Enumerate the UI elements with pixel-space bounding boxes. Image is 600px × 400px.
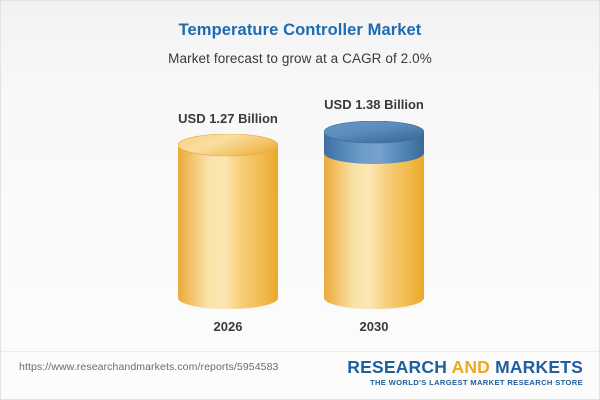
plot-area: USD 1.27 Billion xyxy=(1,1,599,353)
logo-tagline: THE WORLD'S LARGEST MARKET RESEARCH STOR… xyxy=(347,378,583,387)
bar-value-label: USD 1.38 Billion xyxy=(284,97,464,112)
cylinder-shape-gold xyxy=(178,134,278,309)
report-url[interactable]: https://www.researchandmarkets.com/repor… xyxy=(19,361,278,373)
research-and-markets-logo[interactable]: RESEARCH AND MARKETS THE WORLD'S LARGEST… xyxy=(347,358,583,387)
bar-cylinder-2030[interactable] xyxy=(324,121,424,309)
logo-word-research: RESEARCH xyxy=(347,357,447,377)
logo-wordmark: RESEARCH AND MARKETS xyxy=(347,358,583,376)
cylinder-shape-gold-blue xyxy=(324,121,424,309)
logo-word-and: AND xyxy=(451,357,490,377)
market-chart-card: Temperature Controller Market Market for… xyxy=(0,0,600,400)
bar-cylinder-2026[interactable] xyxy=(178,134,278,309)
logo-word-markets: MARKETS xyxy=(495,357,583,377)
bar-category-label: 2030 xyxy=(284,319,464,334)
footer: https://www.researchandmarkets.com/repor… xyxy=(1,351,599,399)
bar-value-label: USD 1.27 Billion xyxy=(138,111,318,126)
